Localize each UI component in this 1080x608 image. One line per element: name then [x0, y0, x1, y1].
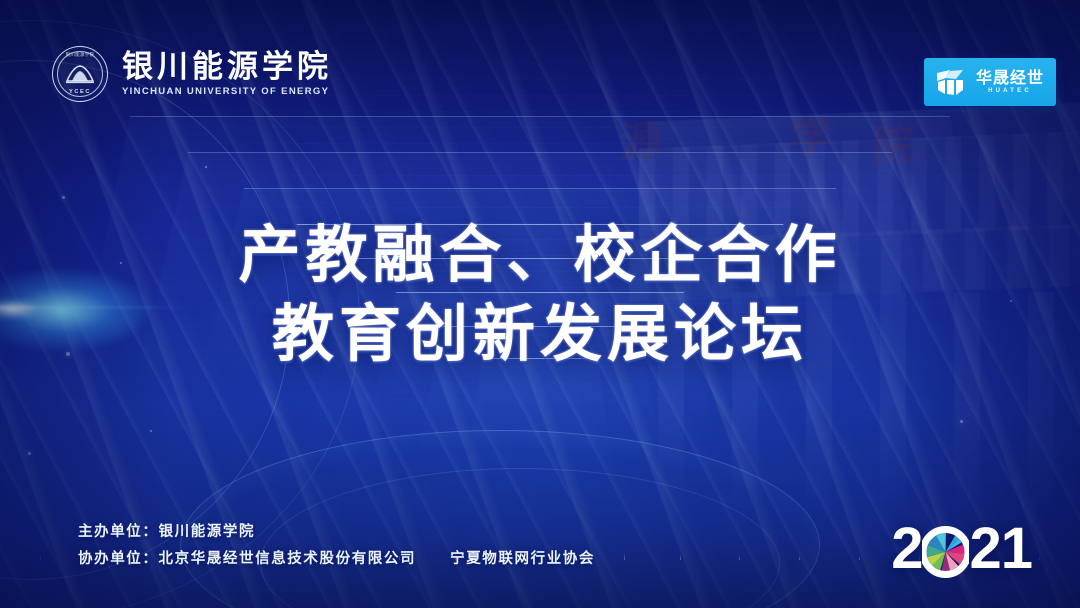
title-line-1: 产教融合、校企合作 [0, 215, 1080, 294]
university-name-block: 银川能源学院 YINCHUAN UNIVERSITY OF ENERGY [122, 51, 332, 97]
sponsor-logo-badge[interactable]: 华晟经世 HUATEC [924, 58, 1056, 106]
university-lockup[interactable]: 银川能源学院 YCEC 银川能源学院 YINCHUAN UNIVERSITY O… [52, 46, 332, 102]
sponsor-name-en: HUATEC [988, 88, 1032, 94]
poster-canvas: 源 学 院 银川能源学院 [0, 0, 1080, 608]
seal-top-text: 银川能源学院 [53, 52, 107, 58]
host-label: 主办单位： [78, 524, 159, 540]
coorganizer-value-1: 北京华晟经世信息技术股份有限公司 [159, 551, 417, 567]
sponsor-name-block: 华晟经世 HUATEC [976, 71, 1044, 94]
university-name-en: YINCHUAN UNIVERSITY OF ENERGY [122, 86, 332, 97]
year-logo: 2 [891, 515, 1032, 582]
seal-bottom-text: YCEC [53, 89, 107, 95]
seal-mountain-icon [65, 63, 95, 85]
year-digits-21: 21 [969, 515, 1032, 582]
host-line: 主办单位：银川能源学院 [78, 520, 595, 541]
university-seal-icon: 银川能源学院 YCEC [52, 46, 108, 102]
year-digit-2: 2 [891, 515, 922, 582]
university-name-cn: 银川能源学院 [122, 51, 332, 84]
coorganizer-label: 协办单位： [78, 551, 159, 567]
sponsor-name-cn: 华晟经世 [976, 71, 1044, 87]
poster-title: 产教融合、校企合作 教育创新发展论坛 [0, 215, 1080, 374]
huatec-mark-icon [936, 69, 967, 96]
organizer-block: 主办单位：银川能源学院 协办单位：北京华晟经世信息技术股份有限公司宁夏物联网行业… [78, 520, 595, 568]
coorganizer-value-2: 宁夏物联网行业协会 [450, 551, 595, 567]
year-digit-0-pinwheel [922, 520, 969, 578]
coorganizer-line: 协办单位：北京华晟经世信息技术股份有限公司宁夏物联网行业协会 [78, 547, 595, 568]
title-line-2: 教育创新发展论坛 [0, 294, 1080, 373]
host-value: 银川能源学院 [159, 524, 256, 540]
